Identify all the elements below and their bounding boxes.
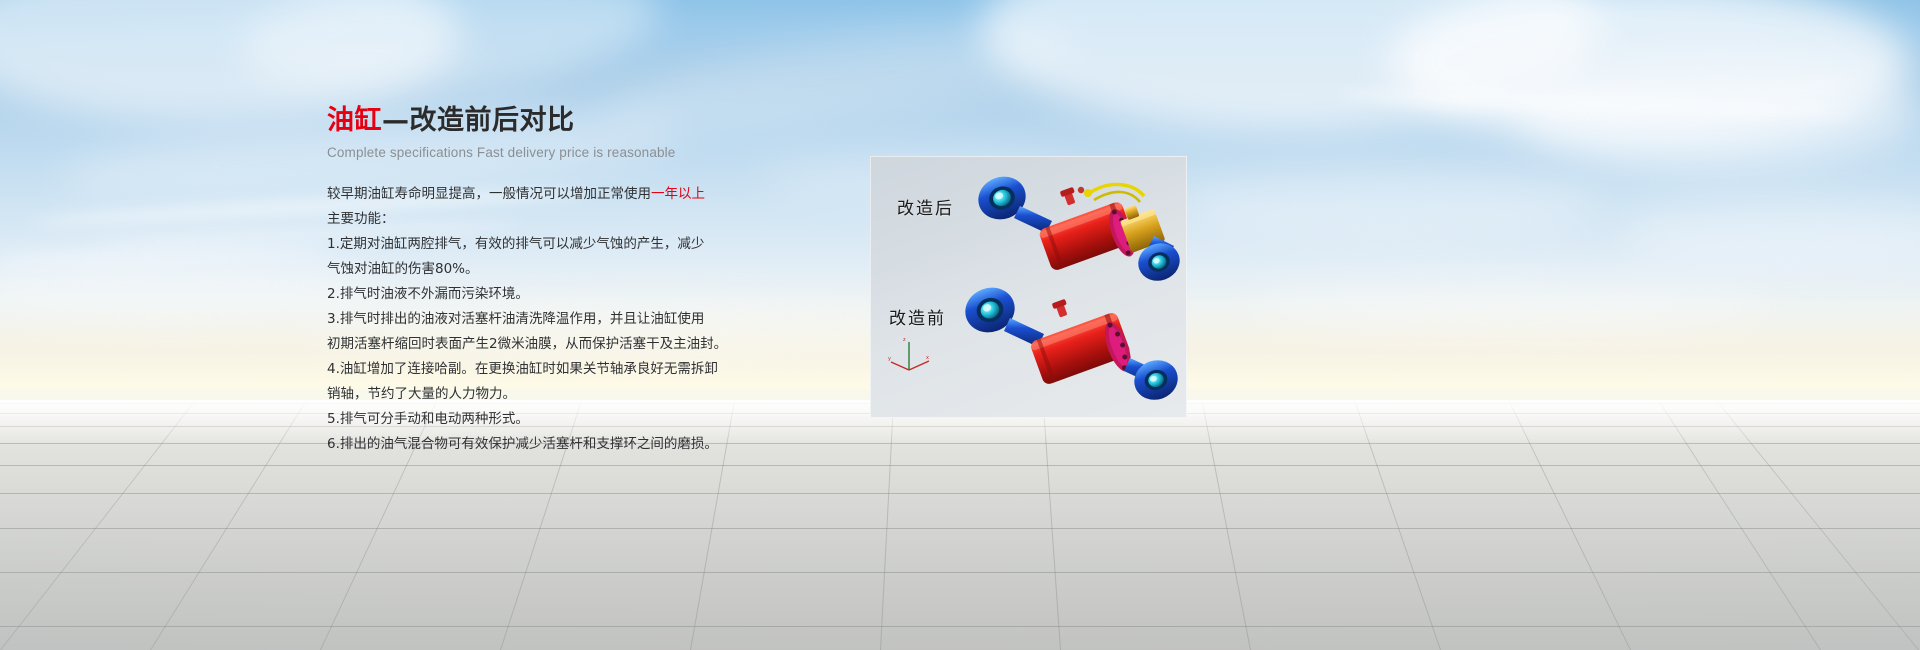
body-line: 主要功能： bbox=[327, 207, 757, 232]
body-line: 初期活塞杆缩回时表面产生2微米油膜，从而保护活塞干及主油封。 bbox=[327, 332, 757, 357]
page-title-rest: —改造前后对比 bbox=[382, 105, 575, 136]
body-line: 2.排气时油液不外漏而污染环境。 bbox=[327, 282, 757, 307]
label-after-modification: 改造后 bbox=[897, 194, 954, 219]
body-line: 4.油缸增加了连接哈副。在更换油缸时如果关节轴承良好无需拆卸 bbox=[327, 357, 757, 382]
svg-text:y: y bbox=[888, 356, 891, 362]
body-line-text: 5.排气可分手动和电动两种形式。 bbox=[327, 411, 529, 427]
body-line: 6.排出的油气混合物可有效保护减少活塞杆和支撑环之间的磨损。 bbox=[327, 432, 757, 457]
body-line-text: 初期活塞杆缩回时表面产生2微米油膜，从而保护活塞干及主油封。 bbox=[327, 336, 727, 352]
hydraulic-cylinder-before-render bbox=[958, 280, 1180, 408]
body-line: 1.定期对油缸两腔排气，有效的排气可以减少气蚀的产生，减少 bbox=[327, 232, 757, 257]
page-subtitle: Complete specifications Fast delivery pr… bbox=[327, 145, 757, 160]
svg-text:z: z bbox=[903, 337, 906, 343]
svg-text:x: x bbox=[926, 355, 929, 361]
body-line-text: 较早期油缸寿命明显提高，一般情况可以增加正常使用 bbox=[327, 186, 651, 202]
banner-body-text: 较早期油缸寿命明显提高，一般情况可以增加正常使用一年以上主要功能：1.定期对油缸… bbox=[327, 182, 757, 457]
body-line: 3.排气时排出的油液对活塞杆油清洗降温作用，并且让油缸使用 bbox=[327, 307, 757, 332]
label-before-modification: 改造前 bbox=[889, 304, 946, 329]
cloud-shape bbox=[1620, 200, 1920, 270]
body-line: 气蚀对油缸的伤害80%。 bbox=[327, 257, 757, 282]
body-line-text: 6.排出的油气混合物可有效保护减少活塞杆和支撑环之间的磨损。 bbox=[327, 436, 718, 452]
body-line-text: 气蚀对油缸的伤害80%。 bbox=[327, 261, 479, 277]
product-comparison-panel[interactable]: 改造后 改造前 z y x bbox=[870, 156, 1187, 418]
body-line-text: 4.油缸增加了连接哈副。在更换油缸时如果关节轴承良好无需拆卸 bbox=[327, 361, 718, 377]
banner-stage: 油缸—改造前后对比 Complete specifications Fast d… bbox=[0, 0, 1920, 650]
body-line-text: 销轴，节约了大量的人力物力。 bbox=[327, 386, 516, 402]
page-title: 油缸—改造前后对比 bbox=[327, 104, 757, 138]
body-line-text: 2.排气时油液不外漏而污染环境。 bbox=[327, 286, 529, 302]
body-line: 较早期油缸寿命明显提高，一般情况可以增加正常使用一年以上 bbox=[327, 182, 757, 207]
body-line: 销轴，节约了大量的人力物力。 bbox=[327, 382, 757, 407]
body-line-highlight: 一年以上 bbox=[651, 186, 705, 202]
page-title-highlight: 油缸 bbox=[327, 105, 382, 136]
body-line-text: 主要功能： bbox=[327, 211, 395, 227]
body-line-text: 1.定期对油缸两腔排气，有效的排气可以减少气蚀的产生，减少 bbox=[327, 236, 704, 252]
banner-text-block: 油缸—改造前后对比 Complete specifications Fast d… bbox=[327, 104, 757, 457]
cloud-shape bbox=[1180, 170, 1600, 240]
body-line-text: 3.排气时排出的油液对活塞杆油清洗降温作用，并且让油缸使用 bbox=[327, 311, 704, 327]
axis-triad-icon: z y x bbox=[888, 336, 932, 376]
hydraulic-cylinder-after-render bbox=[968, 170, 1180, 288]
body-line: 5.排气可分手动和电动两种形式。 bbox=[327, 407, 757, 432]
cloud-shape bbox=[1250, 275, 1770, 335]
